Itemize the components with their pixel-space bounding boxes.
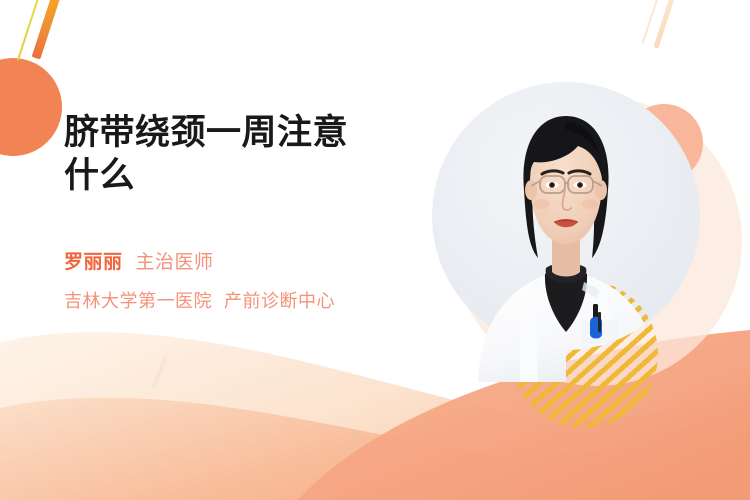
doctor-figure — [432, 82, 700, 382]
neck — [552, 240, 580, 277]
diagonal-stripe-orange-left — [32, 0, 61, 60]
doctor-affiliation: 吉林大学第一医院产前诊断中心 — [64, 287, 424, 313]
doctor-name: 罗丽丽 — [64, 252, 123, 273]
diagonal-stripe-cream-right — [653, 0, 676, 49]
doctor-byline: 罗丽丽主治医师 — [64, 249, 424, 277]
doctor-portrait — [432, 82, 700, 382]
doctor-title: 主治医师 — [136, 252, 214, 273]
hospital-name: 吉林大学第一医院 — [64, 291, 212, 311]
video-cover-card: 脐带绕颈一周注意 什么 罗丽丽主治医师 吉林大学第一医院产前诊断中心 — [0, 0, 750, 500]
title-line-2: 什么 — [64, 156, 135, 195]
text-content: 脐带绕颈一周注意 什么 罗丽丽主治医师 吉林大学第一医院产前诊断中心 — [64, 112, 424, 313]
orange-accent-circle — [0, 58, 62, 156]
title-line-1: 脐带绕颈一周注意 — [64, 113, 348, 152]
page-title: 脐带绕颈一周注意 什么 — [64, 112, 424, 197]
department-name: 产前诊断中心 — [224, 291, 335, 311]
